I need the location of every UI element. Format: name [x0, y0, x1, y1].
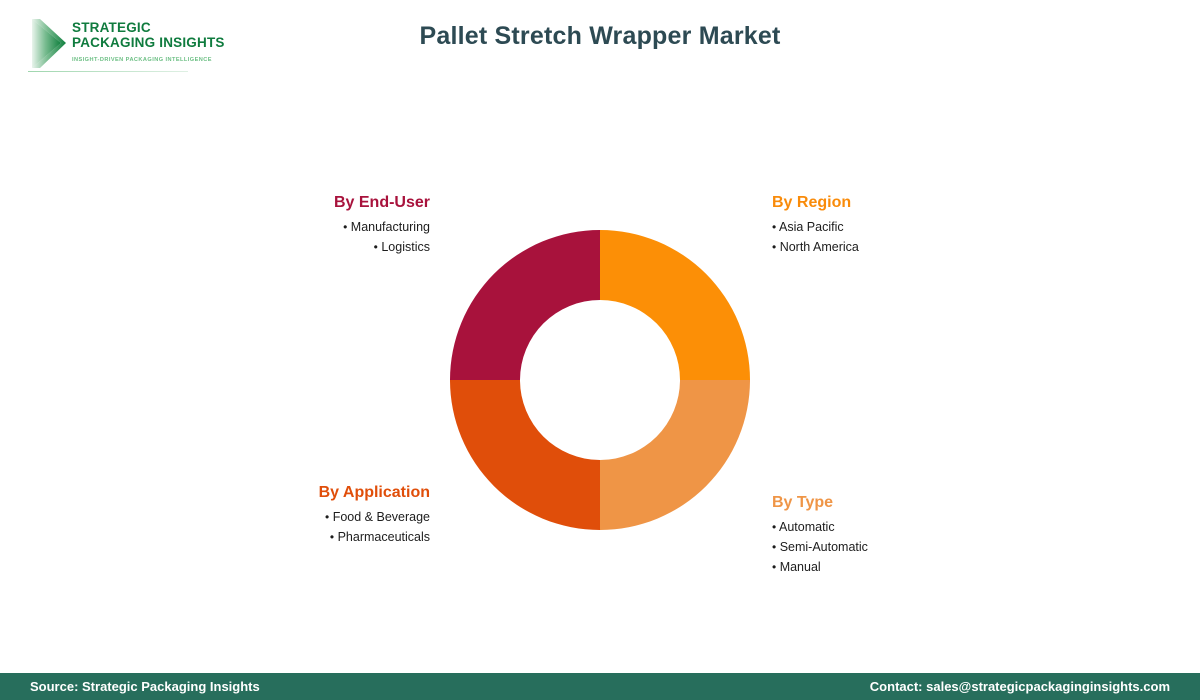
footer-source-text: Source: Strategic Packaging Insights — [30, 679, 260, 694]
list-item-label: Pharmaceuticals — [338, 530, 430, 544]
infographic-page: STRATEGIC PACKAGING INSIGHTS INSIGHT-DRI… — [0, 0, 1200, 700]
donut-chart — [450, 230, 750, 530]
list-item: • Pharmaceuticals — [160, 527, 430, 547]
footer-contact-text[interactable]: Contact: sales@strategicpackaginginsight… — [870, 679, 1170, 694]
list-item-label: Logistics — [381, 240, 430, 254]
donut-slice-enduser[interactable] — [450, 230, 600, 380]
segment-list-type: • Automatic • Semi-Automatic • Manual — [772, 517, 1072, 577]
bullet-icon: • — [772, 240, 776, 254]
segment-block-application: By Application • Food & Beverage • Pharm… — [160, 483, 430, 547]
donut-slice-region[interactable] — [600, 230, 750, 380]
bullet-icon: • — [772, 520, 776, 534]
segment-block-enduser: By End-User • Manufacturing • Logistics — [180, 193, 430, 257]
list-item: • Semi-Automatic — [772, 537, 1072, 557]
bullet-icon: • — [374, 240, 378, 254]
list-item: • Asia Pacific — [772, 217, 1072, 237]
list-item-label: Semi-Automatic — [780, 540, 868, 554]
list-item: • Automatic — [772, 517, 1072, 537]
list-item: • Logistics — [180, 237, 430, 257]
donut-slice-type[interactable] — [600, 380, 750, 530]
bullet-icon: • — [772, 220, 776, 234]
segment-list-application: • Food & Beverage • Pharmaceuticals — [160, 507, 430, 547]
logo-underline-divider — [28, 71, 188, 72]
bullet-icon: • — [772, 540, 776, 554]
footer-bar: Source: Strategic Packaging Insights Con… — [0, 673, 1200, 700]
list-item: • Manufacturing — [180, 217, 430, 237]
segment-heading-enduser: By End-User — [180, 193, 430, 213]
bullet-icon: • — [330, 530, 334, 544]
segment-list-region: • Asia Pacific • North America — [772, 217, 1072, 257]
bullet-icon: • — [772, 560, 776, 574]
page-title: Pallet Stretch Wrapper Market — [0, 22, 1200, 51]
list-item: • North America — [772, 237, 1072, 257]
donut-slice-application[interactable] — [450, 380, 600, 530]
list-item: • Food & Beverage — [160, 507, 430, 527]
bullet-icon: • — [343, 220, 347, 234]
bullet-icon: • — [325, 510, 329, 524]
segment-heading-region: By Region — [772, 193, 1072, 213]
list-item-label: North America — [780, 240, 859, 254]
list-item: • Manual — [772, 557, 1072, 577]
segment-list-enduser: • Manufacturing • Logistics — [180, 217, 430, 257]
segment-block-type: By Type • Automatic • Semi-Automatic • M… — [772, 493, 1072, 577]
logo-tagline: INSIGHT-DRIVEN PACKAGING INTELLIGENCE — [72, 57, 225, 63]
segment-heading-application: By Application — [160, 483, 430, 503]
list-item-label: Manufacturing — [351, 220, 430, 234]
segment-heading-type: By Type — [772, 493, 1072, 513]
segment-block-region: By Region • Asia Pacific • North America — [772, 193, 1072, 257]
list-item-label: Manual — [780, 560, 821, 574]
list-item-label: Asia Pacific — [779, 220, 844, 234]
list-item-label: Food & Beverage — [333, 510, 430, 524]
list-item-label: Automatic — [779, 520, 835, 534]
